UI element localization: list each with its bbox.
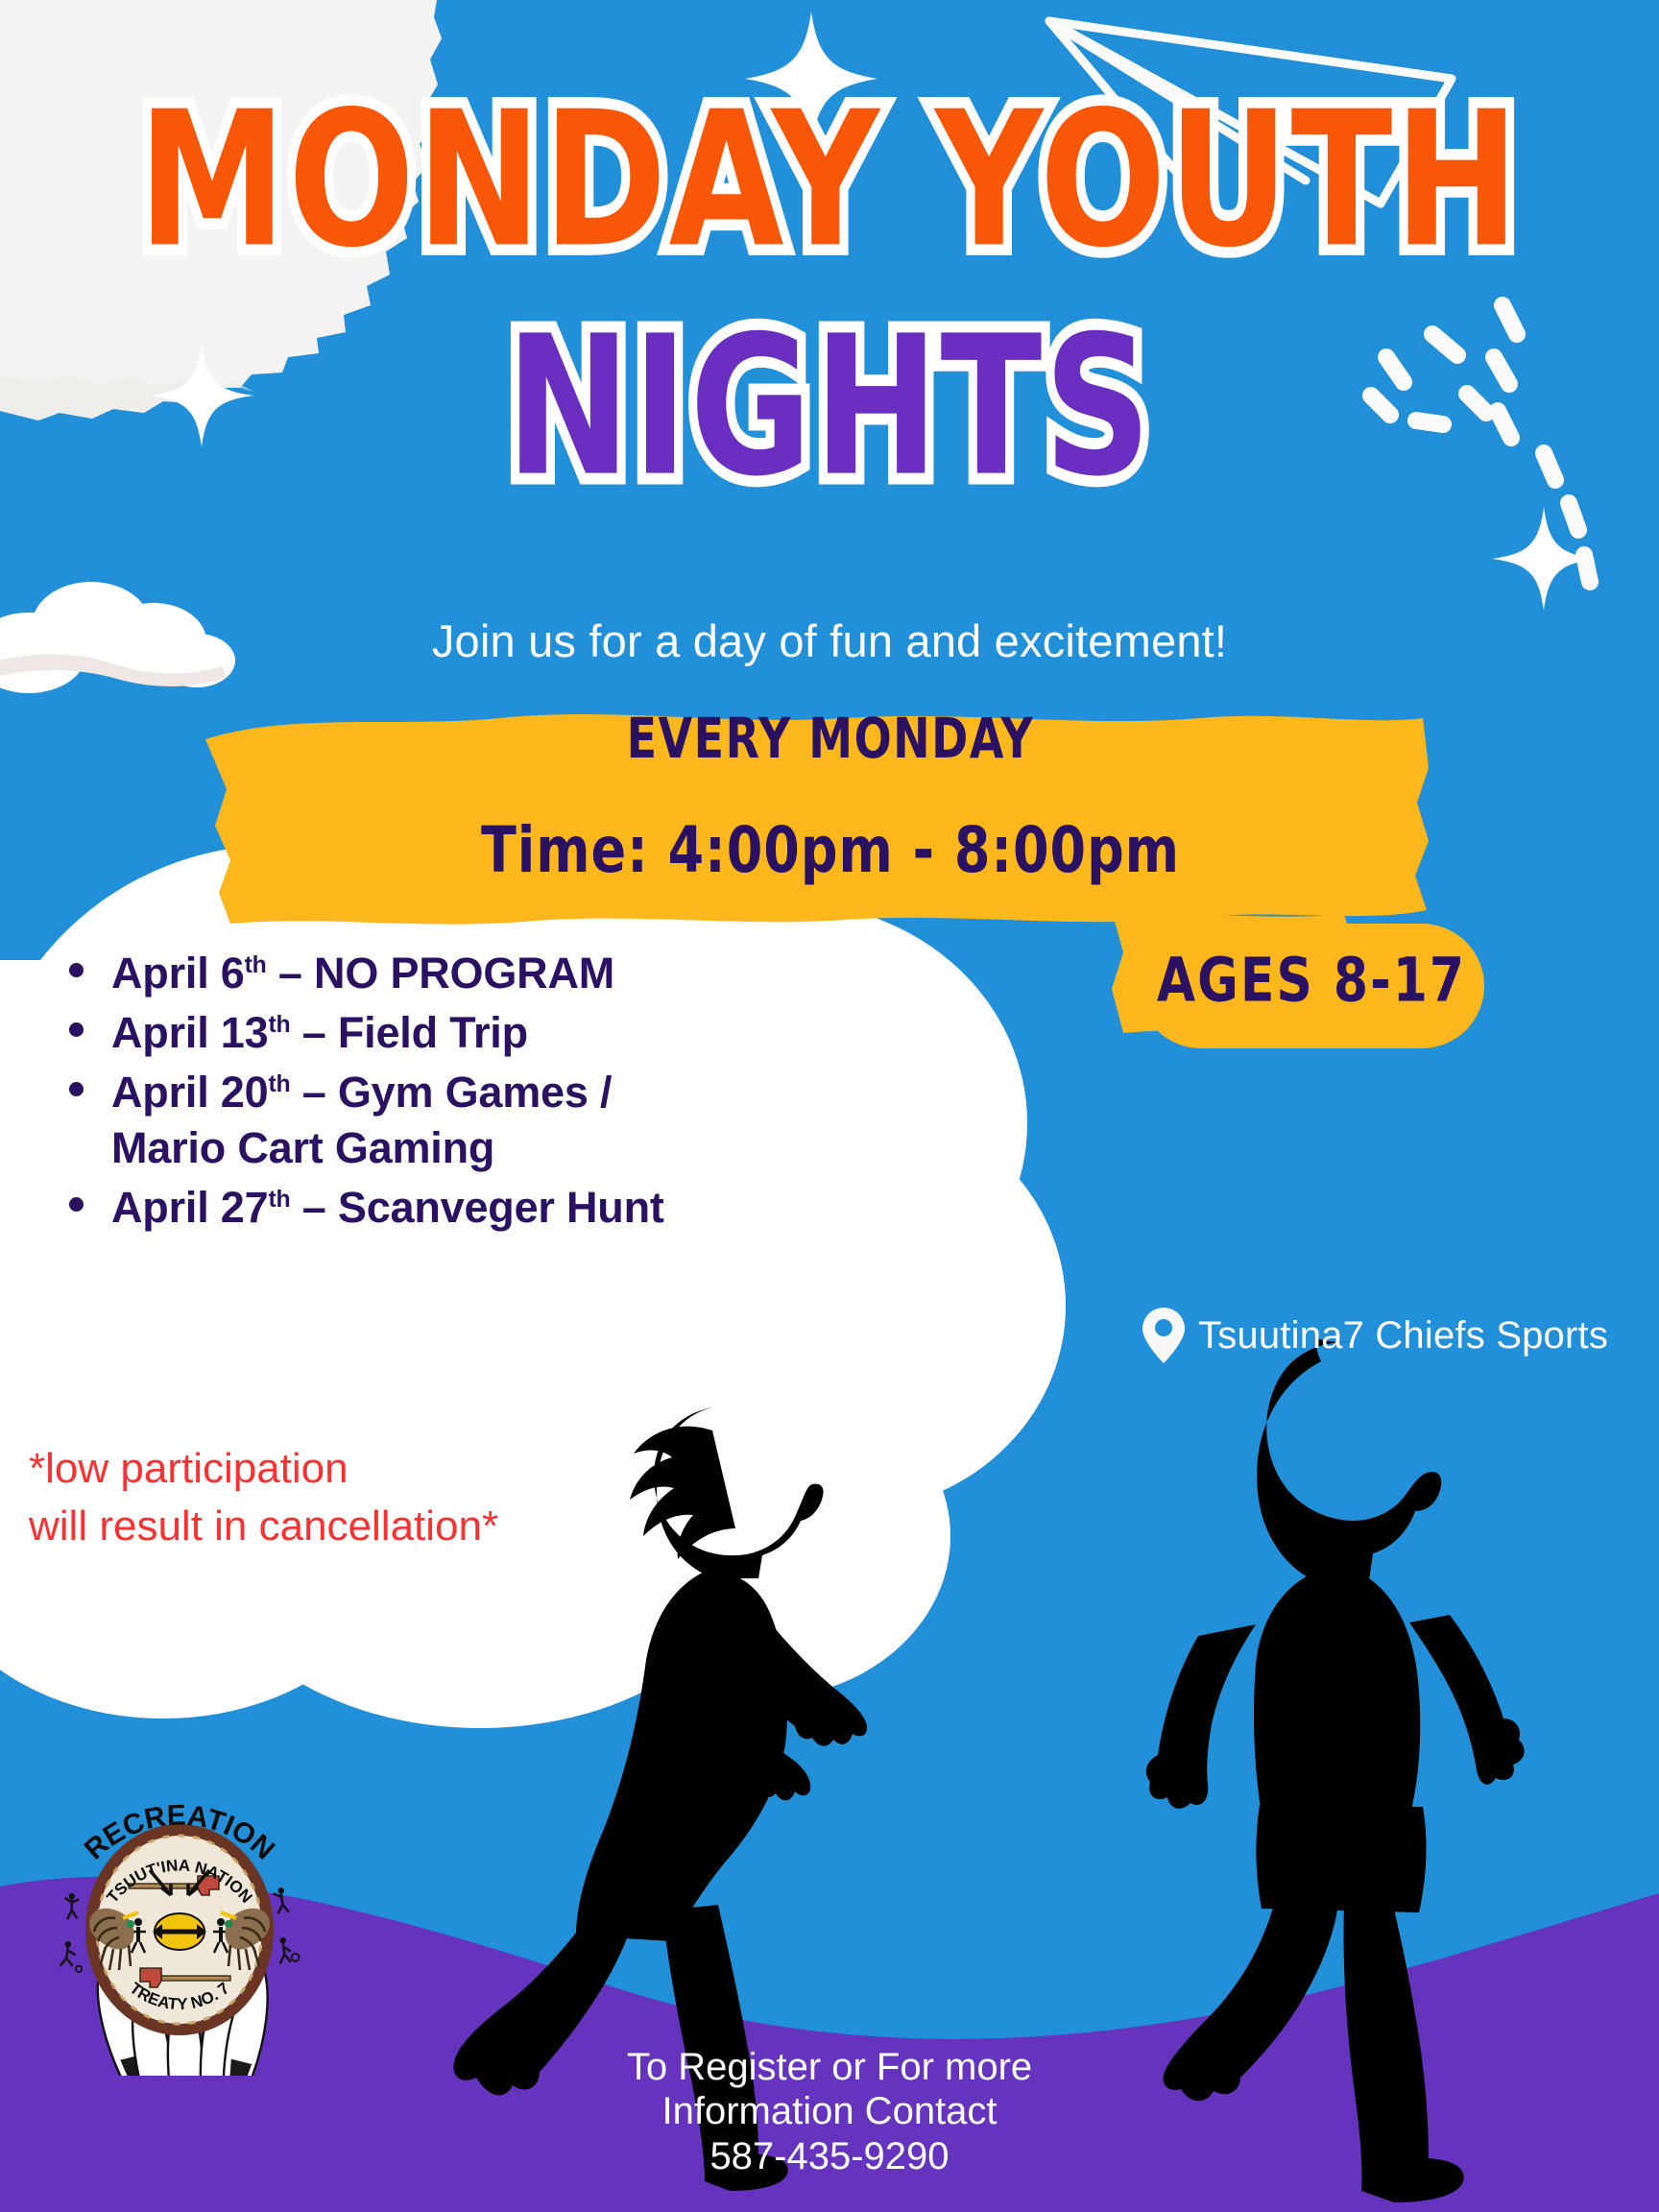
schedule-separator: – (290, 1008, 337, 1057)
poster-subtitle: Join us for a day of fun and excitement! (0, 614, 1659, 667)
title-line-two: NIGHTS (0, 308, 1659, 505)
schedule-date: April 6 (111, 949, 245, 998)
schedule-ordinal: th (268, 1071, 290, 1097)
schedule-ordinal: th (245, 952, 267, 978)
ages-badge: AGES 8-17 (1139, 946, 1484, 1016)
schedule-ordinal: th (268, 1187, 290, 1213)
map-pin-icon (1142, 1308, 1185, 1363)
tsuutina-recreation-logo: RECREATION TSUUT'INA NATION TREATY NO. 7 (50, 1788, 309, 2076)
schedule-item: April 13th – Field Trip (58, 1005, 730, 1061)
schedule-activity: NO PROGRAM (314, 949, 614, 998)
schedule-separator: – (290, 1068, 337, 1117)
schedule-date: April 27 (111, 1183, 268, 1232)
schedule-list: April 6th – NO PROGRAMApril 13th – Field… (58, 946, 730, 1239)
bullet-dot (69, 963, 84, 977)
schedule-separator: – (267, 949, 314, 998)
banner-day-label: EVERY MONDAY (627, 706, 1035, 771)
schedule-activity: Scanveger Hunt (338, 1183, 664, 1232)
schedule-item: April 27th – Scanveger Hunt (58, 1180, 730, 1236)
location-row: Tsuutina7 Chiefs Sports (1142, 1308, 1608, 1363)
location-text: Tsuutina7 Chiefs Sports (1198, 1314, 1608, 1358)
schedule-separator: – (290, 1183, 337, 1232)
poster-canvas: MONDAY YOUTH NIGHTS Join us for a day of… (0, 0, 1659, 2212)
schedule-item: April 6th – NO PROGRAM (58, 946, 730, 1001)
warning-line-two: will result in cancellation* (29, 1498, 758, 1555)
schedule-date: April 13 (111, 1008, 268, 1057)
cancellation-warning: *low participation will result in cancel… (29, 1440, 758, 1555)
schedule-date: April 20 (111, 1068, 268, 1117)
schedule-item: April 20th – Gym Games / Mario Cart Gami… (58, 1065, 730, 1176)
poster-title: MONDAY YOUTH NIGHTS (0, 84, 1659, 457)
warning-line-one: *low participation (29, 1440, 758, 1498)
schedule-ordinal: th (268, 1012, 290, 1038)
bullet-dot (69, 1022, 84, 1037)
footer-phone: 587-435-9290 (0, 2134, 1659, 2178)
bullet-dot (69, 1197, 84, 1212)
schedule-activity: Field Trip (338, 1008, 528, 1057)
bullet-dot (69, 1082, 84, 1096)
title-line-one: MONDAY YOUTH (0, 84, 1659, 275)
schedule-banner: EVERY MONDAY Time: 4:00pm - 8:00pm (250, 706, 1411, 874)
footer-line-two: Information Contact (0, 2089, 1659, 2133)
banner-time-label: Time: 4:00pm - 8:00pm (481, 813, 1180, 887)
